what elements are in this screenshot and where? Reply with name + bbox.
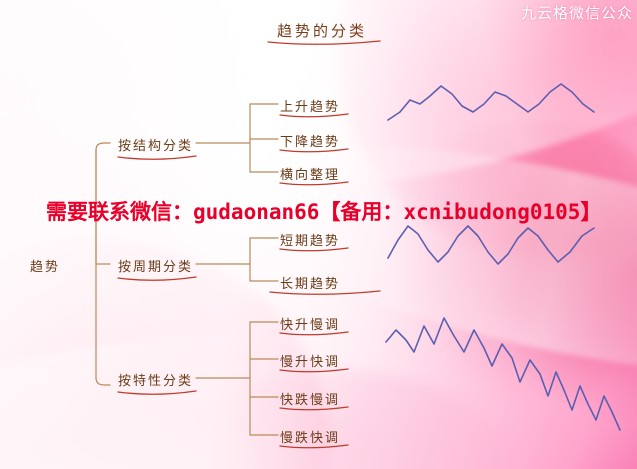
mindmap-screenshot: 趋势的分类 趋势 按结构分类 按周期分类 按特性分类 上升趋势 下降趋势 横向整… [0, 0, 637, 469]
character-trend-curve [386, 318, 620, 430]
leaf-downtrend: 下降趋势 [280, 131, 340, 150]
leaf-fast-drop-slow-adjust: 快跌慢调 [280, 389, 340, 408]
banner-watermark-backup-open: 【备用： [319, 200, 403, 224]
banner-watermark-backup-id: xcnibudong0105 [403, 200, 580, 224]
banner-watermark-id: gudaonan66 [193, 200, 319, 224]
leaf-long-term: 长期趋势 [280, 273, 340, 292]
banner-watermark-backup-close: 】 [580, 200, 601, 224]
page-title: 趋势的分类 [277, 20, 367, 41]
corner-watermark: 九云格微信公众 [521, 2, 633, 23]
structure-trend-curve [388, 84, 594, 120]
underline-branch-2 [118, 277, 196, 280]
underline-title [268, 41, 380, 44]
underline-branch-3 [118, 391, 196, 394]
banner-watermark-prefix: 需要联系微信： [46, 200, 193, 224]
root-node-label: 趋势 [30, 256, 60, 275]
branch-label-character: 按特性分类 [118, 370, 193, 389]
leaf-slow-up-fast-adjust: 慢升快调 [280, 351, 340, 370]
leaf-sideways: 横向整理 [280, 164, 340, 183]
cycle-trend-curve [388, 226, 594, 264]
leaf-fast-up-slow-adjust: 快升慢调 [280, 314, 340, 333]
branch-label-structure: 按结构分类 [118, 135, 193, 154]
branch-label-cycle: 按周期分类 [118, 256, 193, 275]
banner-watermark: 需要联系微信：gudaonan66【备用：xcnibudong0105】 [46, 196, 601, 226]
leaf-uptrend: 上升趋势 [280, 96, 340, 115]
leaf-short-term: 短期趋势 [280, 230, 340, 249]
underline-branch-1 [118, 156, 196, 159]
leaf-slow-drop-fast-adjust: 慢跌快调 [280, 427, 340, 446]
